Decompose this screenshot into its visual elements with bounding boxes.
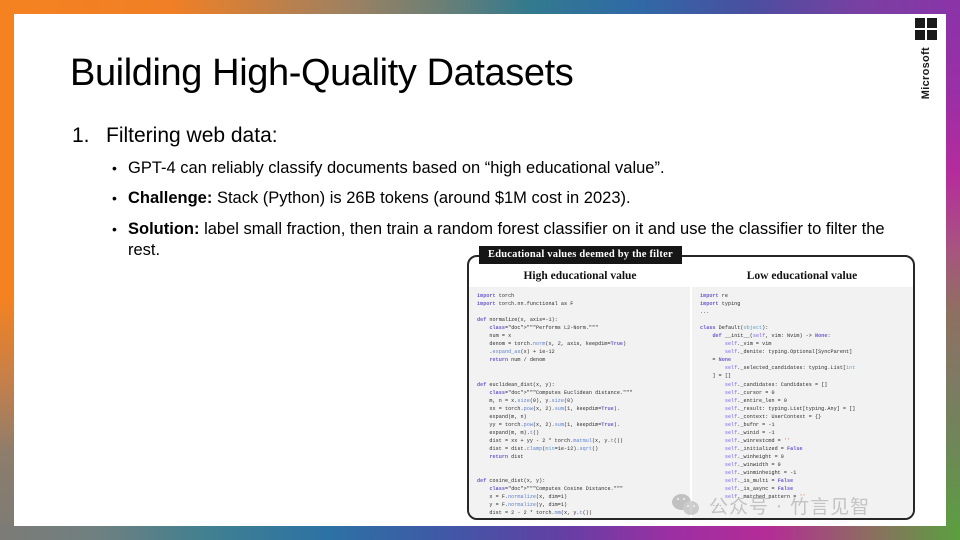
numbered-list-label: Filtering web data: [106,124,278,148]
figure-column-header-low: Low educational value [691,270,913,287]
bullet-text: GPT-4 can reliably classify documents ba… [128,158,902,179]
numbered-list: 1. Filtering web data: [72,124,912,148]
border-gradient-right [946,0,960,540]
numbered-list-marker: 1. [72,124,106,148]
list-item: • Challenge: Stack (Python) is 26B token… [112,188,902,209]
microsoft-logo: Microsoft [905,14,947,110]
figure-caption-badge: Educational values deemed by the filter [479,246,682,264]
figure-code-columns: import torch import torch.nn.functional … [469,287,913,519]
code-pane-low-value: import re import typing ... class Defaul… [692,287,913,519]
code-block-low-value: import re import typing ... class Defaul… [700,292,913,509]
microsoft-grid-icon [915,18,937,40]
figure-column-header-high: High educational value [469,270,691,287]
code-block-high-value: import torch import torch.nn.functional … [477,292,690,519]
bullet-body: GPT-4 can reliably classify documents ba… [128,159,665,177]
bullet-text: Challenge: Stack (Python) is 26B tokens … [128,188,902,209]
bullet-bold-lead: Challenge: [128,189,212,207]
list-item: • GPT-4 can reliably classify documents … [112,158,902,179]
page-title: Building High-Quality Datasets [70,52,573,95]
bullet-body: Stack (Python) is 26B tokens (around $1M… [212,189,630,207]
border-gradient-top [0,0,960,14]
numbered-list-item: 1. Filtering web data: [72,124,912,148]
bullet-dot-icon: • [112,158,128,179]
bullet-bold-lead: Solution: [128,220,199,238]
microsoft-wordmark: Microsoft [920,47,932,99]
code-pane-high-value: import torch import torch.nn.functional … [469,287,690,519]
border-gradient-left [0,0,14,540]
figure-panel: High educational value Low educational v… [467,255,915,520]
border-gradient-bottom [0,526,960,540]
slide-canvas: Microsoft Building High-Quality Datasets… [0,0,960,540]
bullet-dot-icon: • [112,188,128,209]
bullet-dot-icon: • [112,219,128,262]
